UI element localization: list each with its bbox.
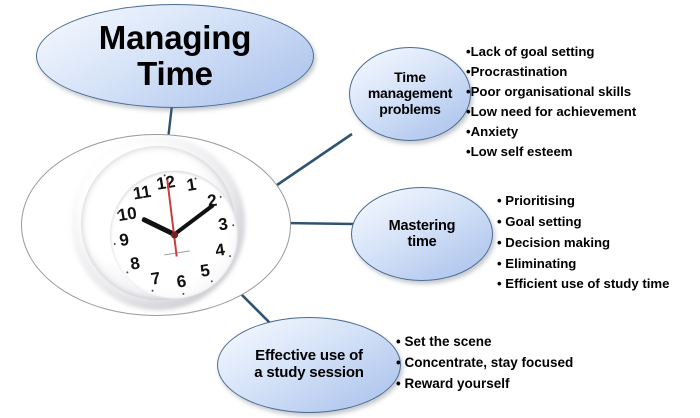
bullet-marker: •: [497, 235, 502, 250]
list-item-label: Set the scene: [405, 334, 492, 349]
list-item-label: Anxiety: [471, 124, 519, 139]
list-item-label: Efficient use of study time: [505, 276, 669, 291]
list-item: • Eliminating: [497, 254, 669, 275]
list-item-label: Goal setting: [505, 214, 581, 229]
node-managing-time-line2: Time: [137, 55, 213, 92]
clock-tick: [182, 293, 184, 295]
node-session-line2: a study session: [254, 364, 364, 381]
node-mastering-time[interactable]: Mastering time: [351, 187, 493, 281]
node-problems-line2: management: [368, 85, 452, 101]
list-item: • Decision making: [497, 233, 669, 254]
list-item-label: Low self esteem: [471, 144, 573, 159]
list-item: • Reward yourself: [396, 373, 573, 394]
wall-clock-photo: 12 1 2 3 4 5 6 7 8 9 10 11: [54, 134, 262, 316]
list-item: • Concentrate, stay focused: [396, 352, 573, 373]
list-item-label: Poor organisational skills: [471, 84, 632, 99]
list-item: • Goal setting: [497, 212, 669, 233]
list-item-label: Concentrate, stay focused: [405, 355, 574, 370]
bullet-list-problems: •Lack of goal setting •Procrastination •…: [466, 42, 636, 162]
clock-center-cap: [170, 231, 178, 239]
clock-numeral-4: 4: [209, 240, 231, 260]
node-time-management-problems[interactable]: Time management problems: [349, 47, 471, 141]
bullet-marker: •: [497, 193, 502, 208]
list-item: •Poor organisational skills: [466, 82, 636, 102]
clock-tick: [232, 224, 234, 226]
list-item-label: Prioritising: [505, 193, 575, 208]
bullet-list-mastering: • Prioritising • Goal setting • Decision…: [497, 191, 669, 295]
node-managing-time-label: Managing Time: [93, 20, 257, 91]
clock-numeral-1: 1: [180, 175, 202, 195]
clock-numeral-3: 3: [212, 214, 234, 234]
list-item: • Set the scene: [396, 331, 573, 352]
list-item-label: Low need for achievement: [471, 104, 637, 119]
list-item: • Efficient use of study time: [497, 274, 669, 295]
node-session-line1: Effective use of: [255, 347, 363, 364]
mind-map-canvas: Managing Time 12 1 2 3 4 5 6 7 8 9 10: [0, 0, 700, 418]
node-mastering-line2: time: [407, 234, 436, 250]
clock-numeral-5: 5: [194, 261, 216, 281]
list-item: •Lack of goal setting: [466, 42, 636, 62]
bullet-marker: •: [396, 355, 401, 370]
connector-clock-to-mastering: [283, 223, 354, 224]
clock-image-frame: 12 1 2 3 4 5 6 7 8 9 10 11: [21, 134, 291, 316]
node-managing-time[interactable]: Managing Time: [36, 4, 314, 108]
list-item-label: Eliminating: [505, 256, 576, 271]
node-effective-study-session-label: Effective use of a study session: [248, 348, 370, 382]
node-mastering-time-label: Mastering time: [383, 218, 462, 250]
list-item: •Low self esteem: [466, 142, 636, 162]
list-item-label: Decision making: [505, 235, 610, 250]
node-mastering-line1: Mastering: [389, 218, 456, 234]
list-item: •Procrastination: [466, 62, 636, 82]
node-managing-time-line1: Managing: [99, 19, 251, 56]
clock-tick: [151, 290, 153, 292]
clock-numeral-6: 6: [170, 272, 192, 292]
clock-tick: [211, 280, 213, 282]
node-problems-line1: Time: [394, 69, 426, 85]
bullet-marker: •: [396, 334, 401, 349]
clock-hour-hand: [141, 217, 176, 237]
list-item: •Anxiety: [466, 122, 636, 142]
list-item: • Prioritising: [497, 191, 669, 212]
connector-clock-to-problems: [277, 134, 352, 185]
bullet-list-session: • Set the scene • Concentrate, stay focu…: [396, 331, 573, 394]
clock-numeral-9: 9: [113, 230, 135, 250]
clock-numeral-11: 11: [131, 183, 153, 203]
clock-numeral-7: 7: [144, 269, 166, 289]
node-effective-study-session[interactable]: Effective use of a study session: [217, 317, 401, 413]
clock-numeral-10: 10: [116, 204, 138, 224]
bullet-marker: •: [497, 276, 502, 291]
list-item-label: Lack of goal setting: [471, 44, 595, 59]
bullet-marker: •: [396, 376, 401, 391]
node-time-management-problems-label: Time management problems: [362, 70, 458, 117]
clock-minute-hand: [173, 203, 215, 236]
list-item-label: Procrastination: [471, 64, 568, 79]
node-problems-line3: problems: [379, 101, 440, 117]
bullet-marker: •: [497, 214, 502, 229]
bullet-marker: •: [497, 256, 502, 271]
list-item-label: Reward yourself: [405, 376, 510, 391]
list-item: •Low need for achievement: [466, 102, 636, 122]
